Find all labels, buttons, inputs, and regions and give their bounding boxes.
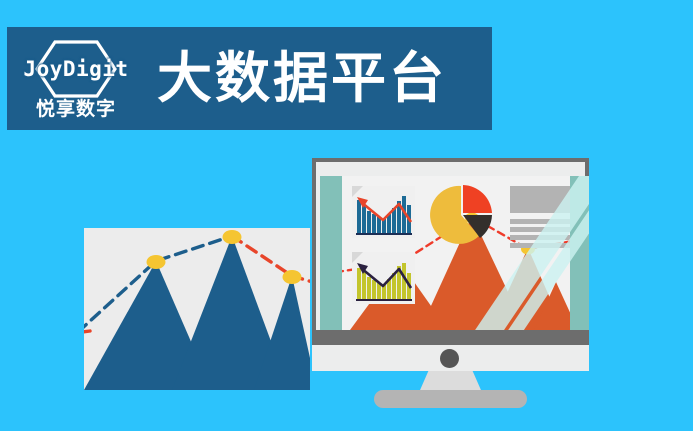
card-fold-corner: [352, 252, 363, 263]
monitor-frame: [312, 158, 589, 340]
poster-canvas: JoyDigit 悦享数字 大数据平台: [0, 0, 693, 431]
monitor-screen: [320, 176, 589, 330]
page-title: 大数据平台: [157, 51, 447, 106]
axis-line: [356, 299, 412, 301]
logo-wordmark: JoyDigit: [20, 57, 132, 81]
screen-band-left: [320, 176, 342, 330]
data-marker: [147, 255, 166, 269]
bar-chart-blue: [352, 186, 415, 238]
data-marker: [283, 270, 302, 284]
monitor-power-button[interactable]: [440, 349, 459, 368]
left-area-chart: [84, 228, 310, 390]
card-fold-corner: [352, 186, 363, 197]
logo-hexagon-icon: JoyDigit: [20, 39, 132, 99]
monitor-bottom-bezel: [312, 330, 589, 345]
bar-chart-olive: [352, 252, 415, 304]
pie-slice-b: [463, 185, 492, 213]
data-marker: [223, 230, 242, 244]
header-banner: JoyDigit 悦享数字 大数据平台: [7, 27, 492, 130]
dashboard-content: [342, 176, 570, 330]
monitor-stand-base: [374, 390, 527, 408]
left-mountain-panel: [84, 228, 310, 390]
desktop-monitor: [312, 158, 589, 388]
pie-chart: [430, 184, 492, 246]
trend-line-red: [84, 331, 90, 333]
brand-logo: JoyDigit 悦享数字: [17, 33, 135, 125]
axis-line: [356, 233, 412, 235]
logo-subtitle: 悦享数字: [36, 100, 116, 119]
